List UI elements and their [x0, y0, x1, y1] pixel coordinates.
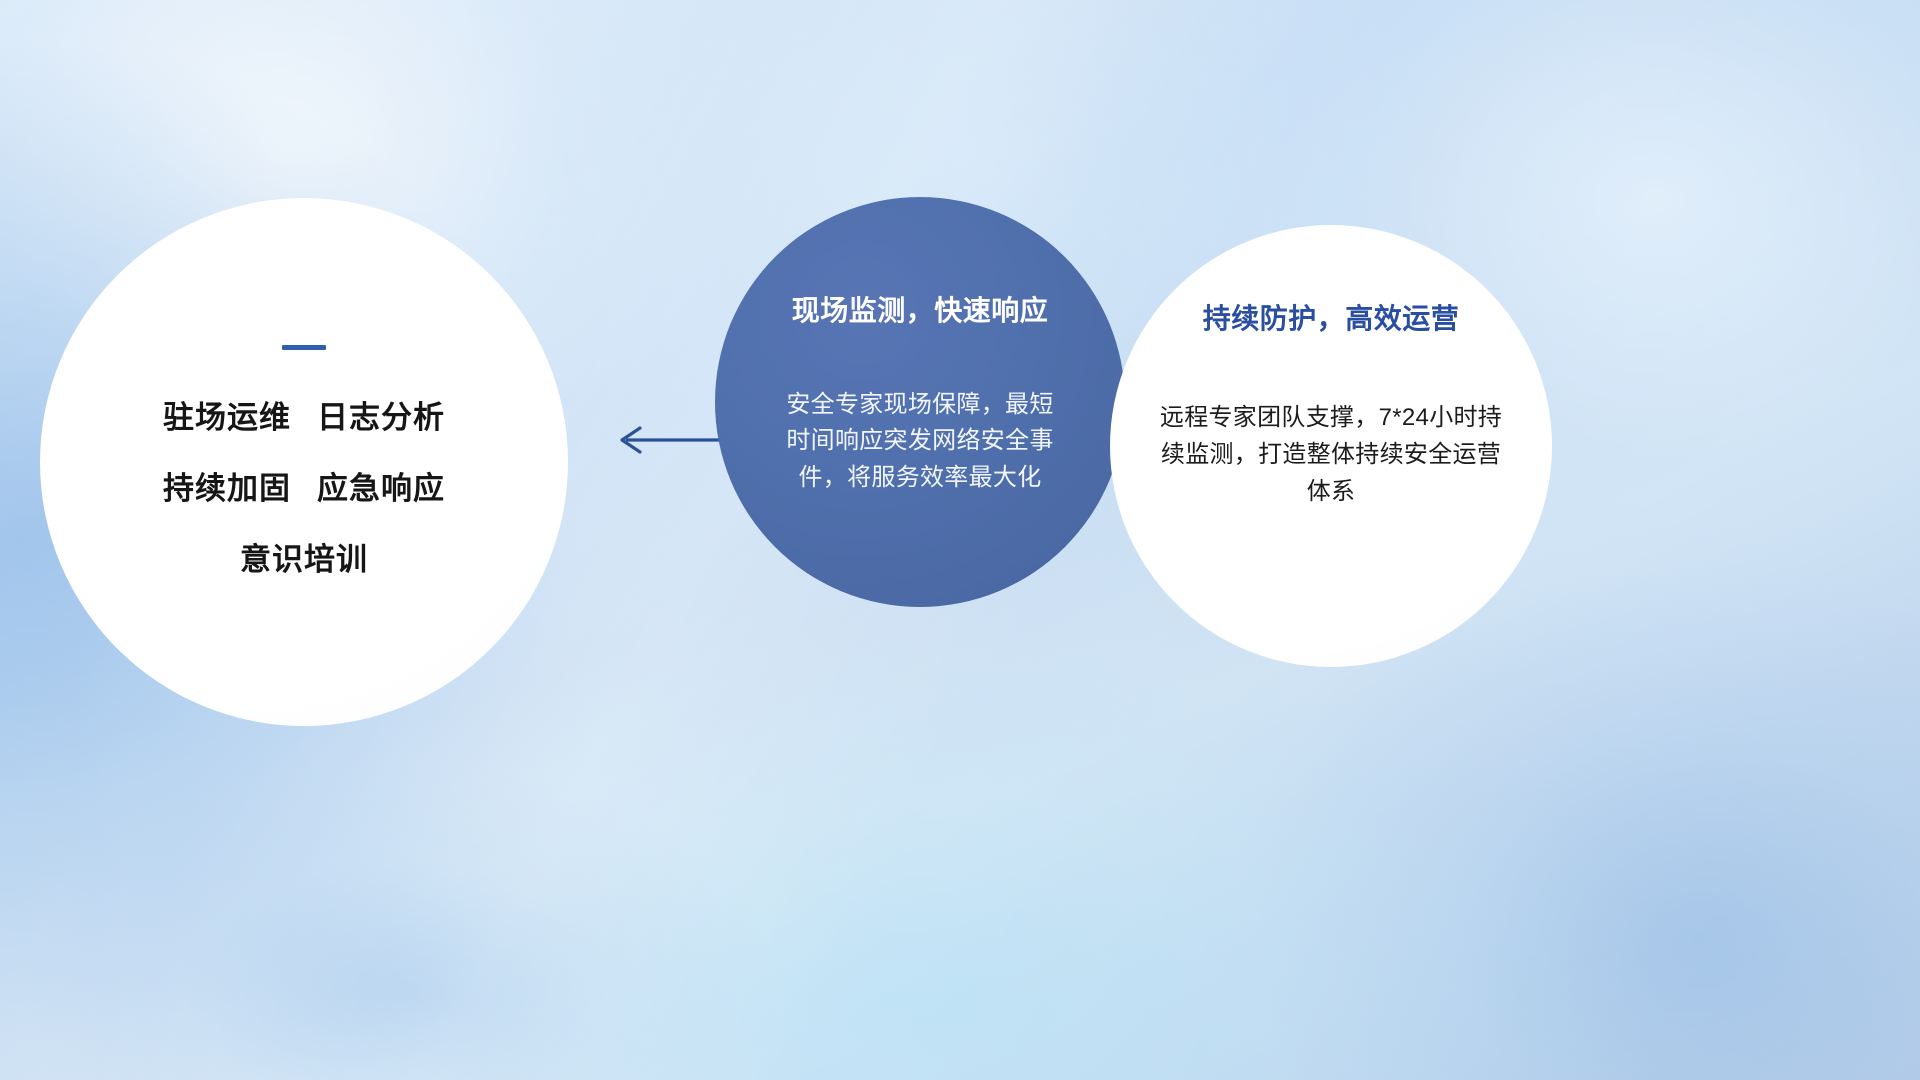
capability-list: 驻场运维日志分析 持续加固应急响应 意识培训 — [163, 392, 445, 579]
right-circle-title: 持续防护，高效运营 — [1203, 297, 1460, 337]
middle-circle-title: 现场监测，快速响应 — [792, 289, 1049, 329]
capability-tag: 意识培训 — [240, 542, 368, 577]
accent-dash-divider — [282, 345, 326, 350]
slide-canvas: 驻场运维日志分析 持续加固应急响应 意识培训 现场监测，快速响应 安全专家现场保… — [0, 0, 1920, 1080]
list-item: 驻场运维日志分析 — [163, 392, 445, 437]
right-circle-body: 远程专家团队支撑，7*24小时持续监测，打造整体持续安全运营体系 — [1153, 399, 1509, 511]
capability-circle-middle[interactable]: 现场监测，快速响应 安全专家现场保障，最短时间响应突发网络安全事件，将服务效率最… — [715, 197, 1125, 607]
arrowhead-icon — [622, 428, 640, 452]
capability-tag: 日志分析 — [317, 400, 445, 435]
capability-tag: 持续加固 — [163, 471, 291, 506]
list-item: 持续加固应急响应 — [163, 463, 445, 508]
middle-circle-body: 安全专家现场保障，最短时间响应突发网络安全事件，将服务效率最大化 — [786, 387, 1054, 496]
capability-circle-left[interactable]: 驻场运维日志分析 持续加固应急响应 意识培训 — [40, 198, 568, 726]
list-item: 意识培训 — [240, 534, 368, 579]
capability-tag: 驻场运维 — [163, 400, 291, 435]
background-glow-bottom-left — [20, 760, 780, 1080]
capability-circle-right[interactable]: 持续防护，高效运营 远程专家团队支撑，7*24小时持续监测，打造整体持续安全运营… — [1110, 225, 1552, 667]
capability-tag: 应急响应 — [317, 471, 445, 506]
